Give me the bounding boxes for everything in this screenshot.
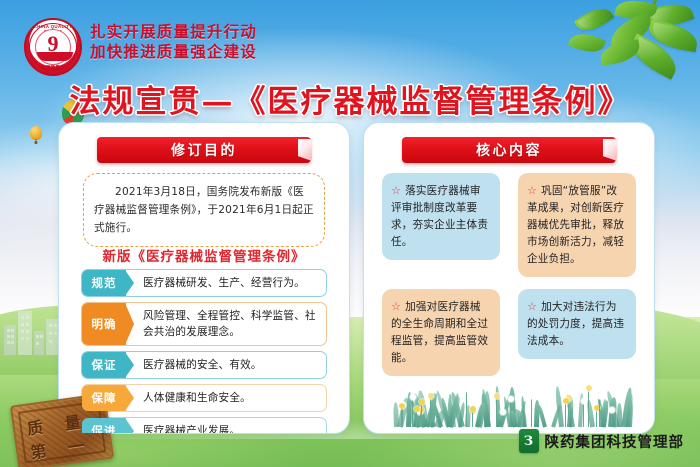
row-tag: 促进 bbox=[82, 418, 126, 434]
brand-logo-icon: З bbox=[519, 429, 539, 453]
flower-stem bbox=[502, 415, 503, 427]
star-icon: ☆ bbox=[527, 184, 537, 197]
hot-air-balloon-decoration bbox=[30, 126, 42, 144]
ribbon-fold-corner bbox=[603, 139, 617, 161]
flower-stem bbox=[568, 401, 569, 427]
flower-stem bbox=[510, 402, 511, 427]
flower-stem bbox=[599, 399, 600, 427]
list-item: 保障 人体健康和生命安全。 bbox=[81, 384, 327, 412]
grass-blade bbox=[534, 400, 539, 428]
flower-stem bbox=[421, 405, 422, 427]
card-text: 加强对医疗器械的全生命周期和全过程监管，提高监管效能。 bbox=[391, 301, 488, 364]
flower-stem bbox=[466, 392, 467, 427]
row-text: 医疗器械的安全、有效。 bbox=[126, 352, 326, 378]
content-card: ☆加强对医疗器械的全生命周期和全过程监管，提高监管效能。 bbox=[382, 289, 500, 376]
row-text: 医疗器械产业发展。 bbox=[126, 418, 326, 434]
flower-stem bbox=[565, 404, 566, 427]
flower-stem bbox=[402, 408, 403, 427]
flower-stem bbox=[588, 391, 589, 427]
flower-decoration bbox=[586, 385, 592, 391]
right-panel-ribbon-header: 核心内容 bbox=[402, 137, 616, 163]
content-card: ☆巩固“放管服”改革成果，对创新医疗器械优先审批，释放市场创新活力，减轻企业负担… bbox=[518, 173, 636, 277]
poster-canvas: CHINA QUALITY MONTH 9 中国质量月 扎实开展质量提升行动 加… bbox=[0, 0, 700, 467]
card-text: 巩固“放管服”改革成果，对创新医疗器械优先审批，释放市场创新活力，减轻企业负担。 bbox=[527, 185, 624, 265]
flower-stem bbox=[401, 409, 402, 427]
row-tag: 明确 bbox=[82, 303, 126, 345]
list-item: 保证 医疗器械的安全、有效。 bbox=[81, 351, 327, 379]
list-item: 规范 医疗器械研发、生产、经营行为。 bbox=[81, 269, 327, 297]
flower-decoration bbox=[494, 393, 500, 399]
flower-decoration bbox=[609, 407, 615, 413]
star-icon: ☆ bbox=[527, 300, 537, 313]
page-title: 法规宣贯—《医疗器械监督管理条例》 bbox=[0, 76, 700, 121]
star-icon: ☆ bbox=[391, 184, 401, 197]
china-quality-month-emblem: CHINA QUALITY MONTH 9 中国质量月 bbox=[24, 18, 82, 76]
content-card: ☆加大对违法行为的处罚力度，提高违法成本。 bbox=[518, 289, 636, 359]
flower-decoration bbox=[500, 409, 506, 415]
row-text: 风险管理、全程管控、科学监管、社会共治的发展理念。 bbox=[126, 303, 326, 345]
flower-stem bbox=[583, 404, 584, 427]
flower-decoration bbox=[597, 393, 603, 399]
row-tag: 保证 bbox=[82, 352, 126, 378]
footer-brand: З 陕药集团科技管理部 bbox=[519, 429, 685, 453]
slogan-line-2: 加快推进质量强企建设 bbox=[90, 42, 257, 62]
seal-char: 一 bbox=[66, 432, 85, 458]
header-slogan: 扎实开展质量提升行动 加快推进质量强企建设 bbox=[90, 22, 257, 62]
grass-flowers-decoration bbox=[392, 383, 628, 427]
row-tag: 规范 bbox=[82, 270, 126, 296]
content-card: ☆落实医疗器械审评审批制度改革要求，夯实企业主体责任。 bbox=[382, 173, 500, 260]
seal-char: 量 bbox=[63, 408, 82, 434]
right-panel-title: 核心内容 bbox=[476, 140, 542, 160]
flower-decoration bbox=[581, 398, 587, 404]
list-item: 明确 风险管理、全程管控、科学监管、社会共治的发展理念。 bbox=[81, 302, 327, 346]
flower-stem bbox=[430, 399, 431, 427]
flower-stem bbox=[416, 412, 417, 427]
flower-stem bbox=[496, 399, 497, 427]
card-text: 落实医疗器械审评审批制度改革要求，夯实企业主体责任。 bbox=[391, 185, 488, 248]
flower-stem bbox=[412, 400, 413, 427]
intro-text: 2021年3月18日，国务院发布新版《医疗器械监督管理条例》，于2021年6月1… bbox=[94, 183, 314, 237]
seal-char: 质 bbox=[25, 414, 44, 440]
grass-blade bbox=[586, 399, 595, 427]
ribbon-fold-corner bbox=[298, 139, 312, 161]
emblem-bottom-text: 中国质量月 bbox=[26, 65, 80, 71]
panel-revision-purpose: 修订目的 2021年3月18日，国务院发布新版《医疗器械监督管理条例》，于202… bbox=[58, 122, 350, 434]
intro-textbox: 2021年3月18日，国务院发布新版《医疗器械监督管理条例》，于2021年6月1… bbox=[83, 173, 325, 247]
star-icon: ☆ bbox=[391, 300, 401, 313]
flower-stem bbox=[531, 399, 532, 427]
flower-decoration bbox=[464, 386, 470, 392]
slogan-line-1: 扎实开展质量提升行动 bbox=[90, 22, 257, 42]
flower-decoration bbox=[529, 393, 535, 399]
left-panel-subheading: 新版《医疗器械监督管理条例》 bbox=[59, 245, 349, 265]
flower-stem bbox=[611, 413, 612, 427]
flower-stem bbox=[472, 412, 473, 427]
list-item: 促进 医疗器械产业发展。 bbox=[81, 417, 327, 434]
flower-stem bbox=[596, 411, 597, 427]
purpose-list: 规范 医疗器械研发、生产、经营行为。 明确 风险管理、全程管控、科学监管、社会共… bbox=[81, 269, 327, 434]
brand-name: 陕药集团科技管理部 bbox=[545, 431, 685, 452]
row-text: 人体健康和生命安全。 bbox=[126, 385, 326, 411]
seal-char: 第 bbox=[29, 437, 48, 463]
left-panel-title: 修订目的 bbox=[171, 140, 237, 160]
card-text: 加大对违法行为的处罚力度，提高违法成本。 bbox=[527, 301, 624, 347]
row-text: 医疗器械研发、生产、经营行为。 bbox=[126, 270, 326, 296]
row-tag: 保障 bbox=[82, 385, 126, 411]
left-panel-ribbon-header: 修订目的 bbox=[97, 137, 311, 163]
panel-core-content: 核心内容 ☆落实医疗器械审评审批制度改革要求，夯实企业主体责任。 ☆巩固“放管服… bbox=[363, 122, 655, 434]
